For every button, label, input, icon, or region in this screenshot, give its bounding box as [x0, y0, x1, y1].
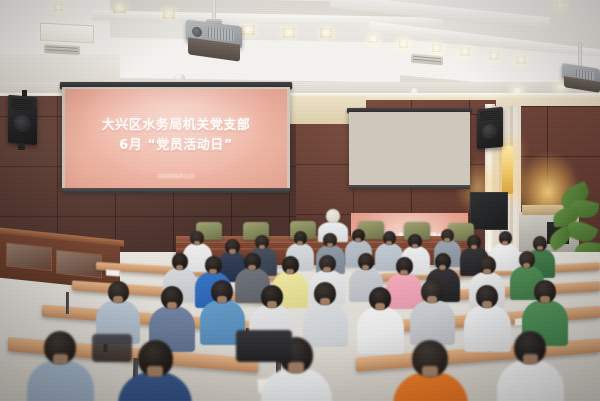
downlight-8 — [369, 35, 378, 43]
presenter-head — [326, 209, 340, 223]
audience-person-neck — [523, 354, 538, 364]
audience-person-neck — [375, 303, 385, 310]
downlight-3 — [113, 3, 126, 13]
ceiling-soffit-center — [100, 37, 400, 82]
audience-person-body — [410, 300, 455, 345]
audience-person-neck — [209, 269, 217, 274]
projection-screen-left[interactable]: 大兴区水务局机关党支部 6月 “党员活动日” 2018年6月11日 — [65, 89, 287, 188]
downlight-14 — [556, 2, 565, 9]
audience-person-neck — [286, 269, 294, 274]
projection-screen-left-bottom-bar — [62, 188, 290, 193]
ceiling-troffer-light — [40, 23, 94, 44]
chair-back-foreground-1 — [236, 330, 292, 362]
audience-person-neck — [320, 298, 330, 305]
conference-room-photo: 大兴区水务局机关党支部 6月 “党员活动日” 2018年6月11日 大兴区水务局… — [0, 0, 600, 401]
wall-speaker-left — [8, 95, 37, 146]
audience-person-neck — [422, 366, 438, 377]
speaker-foot-left — [18, 143, 25, 150]
audience-person-neck — [523, 263, 530, 268]
audience-person-body — [497, 360, 564, 401]
projection-screen-right-frame — [349, 112, 470, 188]
audience-person-neck — [427, 296, 437, 303]
desk-leg-2 — [66, 292, 69, 314]
audience-person-neck — [362, 265, 369, 270]
audience-person-neck — [327, 243, 333, 247]
audience-person-neck — [248, 265, 256, 270]
audience-person-neck — [444, 238, 450, 242]
audience-person-neck — [176, 265, 183, 270]
audience-person-neck — [288, 362, 304, 373]
projection-screen-right-bottom-bar — [349, 185, 470, 189]
audience-person-neck — [259, 245, 265, 249]
downlight-7 — [320, 28, 332, 38]
audience-person-neck — [482, 301, 492, 308]
audience-person-neck — [471, 245, 477, 249]
ceiling-left-lower — [0, 54, 120, 84]
flat-panel-display[interactable] — [470, 192, 508, 230]
audience-person-neck — [502, 241, 508, 245]
downlight-11 — [460, 48, 470, 56]
downlight-13 — [516, 56, 526, 64]
screen-left-title-line1: 大兴区水务局机关党支部 — [65, 114, 287, 133]
projector-2-mount-pole — [578, 42, 582, 68]
audience-person-neck — [483, 269, 491, 274]
screen-left-date: 2018年6月11日 — [65, 173, 287, 180]
audience-person-neck — [386, 241, 392, 245]
paper-1 — [106, 270, 120, 277]
downlight-4 — [163, 9, 175, 19]
downlight-1 — [54, 4, 63, 11]
audience-person-neck — [167, 302, 177, 309]
downlight-9 — [399, 40, 408, 48]
screen-left-title-line2: 6月 “党员活动日” — [65, 134, 287, 153]
dome-camera-left — [174, 74, 185, 81]
chair-back-foreground-2 — [92, 334, 132, 362]
downlight-6 — [283, 28, 295, 38]
wall-sconce-light — [502, 146, 513, 194]
audience-person-neck — [113, 296, 123, 303]
audience-person-neck — [323, 267, 331, 272]
audience-person-neck — [439, 265, 446, 270]
downlight-12 — [489, 52, 499, 60]
audience-person-neck — [217, 296, 227, 303]
audience-person-body — [27, 360, 94, 401]
audience-person-neck — [412, 244, 418, 248]
audience-person-neck — [540, 296, 550, 303]
audience-person-neck — [400, 270, 408, 275]
audience-person-body — [303, 302, 348, 347]
downlight-5 — [242, 25, 255, 35]
downlight-10 — [432, 44, 441, 52]
audience-person-body — [357, 307, 404, 354]
audience-person-neck — [147, 366, 163, 377]
audience-person-neck — [537, 246, 543, 250]
air-vent-left — [44, 44, 80, 55]
audience-person-body — [464, 305, 511, 352]
audience-person-neck — [53, 354, 68, 364]
audience-person-neck — [229, 249, 236, 254]
wall-speaker-right — [477, 107, 503, 149]
audience-person-neck — [297, 241, 303, 245]
audience-person-neck — [267, 301, 277, 308]
audience-person-neck — [355, 238, 361, 242]
audience-person-neck — [194, 241, 200, 245]
